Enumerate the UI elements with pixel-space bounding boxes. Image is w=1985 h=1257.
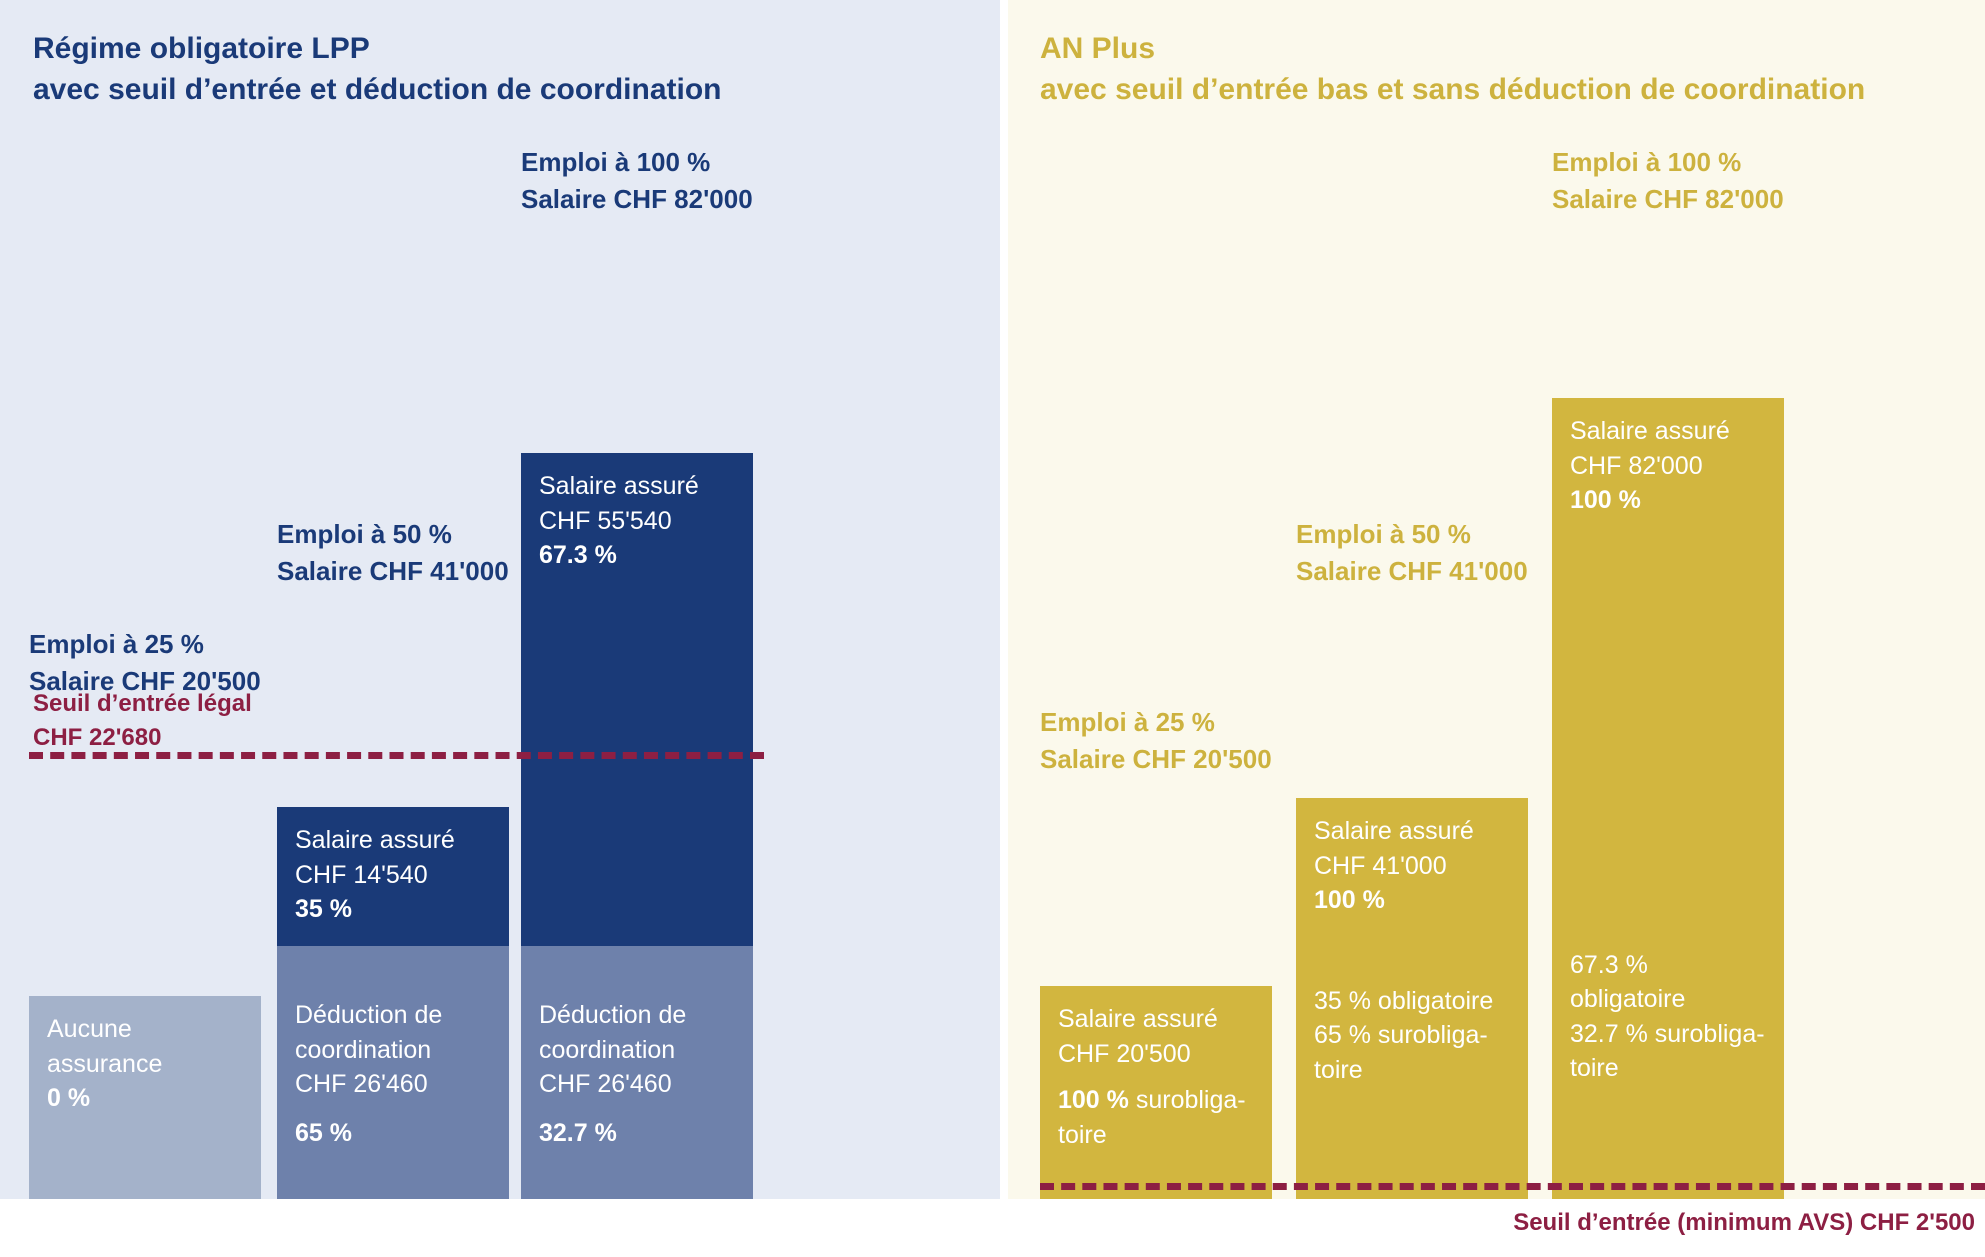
segment-lpp-100-coordination-deduction[interactable]: Déduction de coordination CHF 26'460 32.… [521,946,753,1199]
segment-lpp-50-insured-salary[interactable]: Salaire assuré CHF 14'540 35 % [277,807,509,946]
threshold-note-lpp: Seuil d’entrée légal CHF 22'680 [33,687,252,755]
segment-anplus-100-insured-label: Salaire assuré [1570,414,1766,449]
segment-lpp-100-deduction-amount: CHF 26'460 [539,1067,735,1102]
segment-anplus-50-split-line1: 35 % obligatoire [1314,984,1510,1019]
segment-lpp-100-insured-amount: CHF 55'540 [539,504,735,539]
threshold-note-anplus: Seuil d’entrée (minimum AVS) CHF 2'500 [1513,1206,1975,1240]
threshold-line-anplus [1040,1183,1985,1190]
bar-group-lpp-100: Emploi à 100 % Salaire CHF 82'000 Salair… [521,58,753,1199]
bar-stack-lpp-50: Salaire assuré CHF 14'540 35 % Déduction… [277,807,509,1199]
segment-lpp-100-deduction-percent: 32.7 % [539,1116,735,1151]
segment-anplus-100-split-line2: obligatoire [1570,982,1766,1017]
bar-stack-anplus-25: Salaire assuré CHF 20'500 100 % suroblig… [1040,986,1272,1199]
segment-anplus-25-split-percent: 100 % [1058,1086,1129,1114]
infographic-root: Régime obligatoire LPP avec seuil d’entr… [0,0,1985,1257]
segment-lpp-50-insured-amount: CHF 14'540 [295,858,491,893]
segment-anplus-50-insured-salary[interactable]: Salaire assuré CHF 41'000 100 % 35 % obl… [1296,798,1528,1199]
bar-group-anplus-25: Emploi à 25 % Salaire CHF 20'500 Salaire… [1040,58,1272,1199]
bar-caption-anplus-50: Emploi à 50 % Salaire CHF 41'000 [1296,516,1528,590]
bar-group-anplus-100: Emploi à 100 % Salaire CHF 82'000 Salair… [1552,58,1784,1199]
bar-caption-lpp-100: Emploi à 100 % Salaire CHF 82'000 [521,144,753,218]
segment-anplus-25-insured-salary[interactable]: Salaire assuré CHF 20'500 100 % suroblig… [1040,986,1272,1199]
segment-lpp-100-deduction-line2: coordination [539,1033,735,1068]
segment-anplus-50-insured-label: Salaire assuré [1314,814,1510,849]
segment-anplus-50-insured-percent: 100 % [1314,883,1510,918]
segment-anplus-25-split-rest: surobliga- [1129,1086,1246,1114]
segment-lpp-100-insured-percent: 67.3 % [539,538,735,573]
segment-lpp-100-deduction-line1: Déduction de [539,998,735,1033]
bar-caption-lpp-50-line1: Emploi à 50 % [277,516,509,553]
bar-caption-lpp-25-line1: Emploi à 25 % [29,626,261,663]
bar-group-anplus-50: Emploi à 50 % Salaire CHF 41'000 Salaire… [1296,58,1528,1199]
bar-caption-lpp-50: Emploi à 50 % Salaire CHF 41'000 [277,516,509,590]
segment-anplus-25-insured-amount: CHF 20'500 [1058,1037,1254,1072]
segment-lpp-50-coordination-deduction[interactable]: Déduction de coordination CHF 26'460 65 … [277,946,509,1199]
bar-caption-anplus-25: Emploi à 25 % Salaire CHF 20'500 [1040,704,1272,778]
segment-anplus-25-insured-label: Salaire assuré [1058,1002,1254,1037]
segment-lpp-25-no-insurance[interactable]: Aucune assurance 0 % [29,996,261,1199]
threshold-note-lpp-line2: CHF 22'680 [33,721,252,755]
segment-anplus-50-split-line2: 65 % surobliga- [1314,1018,1510,1053]
bar-caption-anplus-100: Emploi à 100 % Salaire CHF 82'000 [1552,144,1784,218]
bar-caption-anplus-100-line2: Salaire CHF 82'000 [1552,181,1784,218]
segment-lpp-50-deduction-amount: CHF 26'460 [295,1067,491,1102]
segment-lpp-50-insured-label: Salaire assuré [295,823,491,858]
threshold-note-lpp-line1: Seuil d’entrée légal [33,687,252,721]
bar-stack-anplus-100: Salaire assuré CHF 82'000 100 % 67.3 % o… [1552,398,1784,1199]
segment-anplus-100-insured-percent: 100 % [1570,483,1766,518]
segment-anplus-25-split-line1: 100 % surobliga- [1058,1083,1254,1118]
bar-caption-anplus-50-line1: Emploi à 50 % [1296,516,1528,553]
bar-caption-lpp-100-line2: Salaire CHF 82'000 [521,181,753,218]
segment-lpp-100-insured-salary[interactable]: Salaire assuré CHF 55'540 67.3 % [521,453,753,946]
segment-anplus-100-split-line3: 32.7 % surobliga- [1570,1017,1766,1052]
segment-anplus-25-split-line2: toire [1058,1118,1254,1153]
segment-lpp-50-deduction-line1: Déduction de [295,998,491,1033]
bar-caption-anplus-25-line1: Emploi à 25 % [1040,704,1272,741]
segment-lpp-25-line1: Aucune [47,1012,243,1047]
bar-stack-lpp-25: Aucune assurance 0 % [29,996,261,1199]
bar-stack-anplus-50: Salaire assuré CHF 41'000 100 % 35 % obl… [1296,798,1528,1199]
bar-caption-anplus-50-line2: Salaire CHF 41'000 [1296,553,1528,590]
segment-anplus-50-insured-amount: CHF 41'000 [1314,849,1510,884]
segment-lpp-25-line2: assurance [47,1047,243,1082]
bar-group-lpp-25: Emploi à 25 % Salaire CHF 20'500 Aucune … [29,58,261,1199]
segment-anplus-100-insured-salary[interactable]: Salaire assuré CHF 82'000 100 % 67.3 % o… [1552,398,1784,1199]
threshold-line-lpp [29,752,764,759]
bar-group-lpp-50: Emploi à 50 % Salaire CHF 41'000 Salaire… [277,58,509,1199]
segment-lpp-50-insured-percent: 35 % [295,892,491,927]
bar-caption-lpp-50-line2: Salaire CHF 41'000 [277,553,509,590]
segment-anplus-100-insured-amount: CHF 82'000 [1570,449,1766,484]
bar-caption-anplus-25-line2: Salaire CHF 20'500 [1040,741,1272,778]
segment-lpp-50-deduction-line2: coordination [295,1033,491,1068]
segment-lpp-25-percent: 0 % [47,1081,243,1116]
segment-anplus-50-split-line3: toire [1314,1053,1510,1088]
segment-lpp-100-insured-label: Salaire assuré [539,469,735,504]
bar-caption-anplus-100-line1: Emploi à 100 % [1552,144,1784,181]
segment-anplus-100-split-line1: 67.3 % [1570,948,1766,983]
segment-lpp-50-deduction-percent: 65 % [295,1116,491,1151]
bar-stack-lpp-100: Salaire assuré CHF 55'540 67.3 % Déducti… [521,453,753,1199]
segment-anplus-100-split-line4: toire [1570,1051,1766,1086]
bar-caption-lpp-100-line1: Emploi à 100 % [521,144,753,181]
